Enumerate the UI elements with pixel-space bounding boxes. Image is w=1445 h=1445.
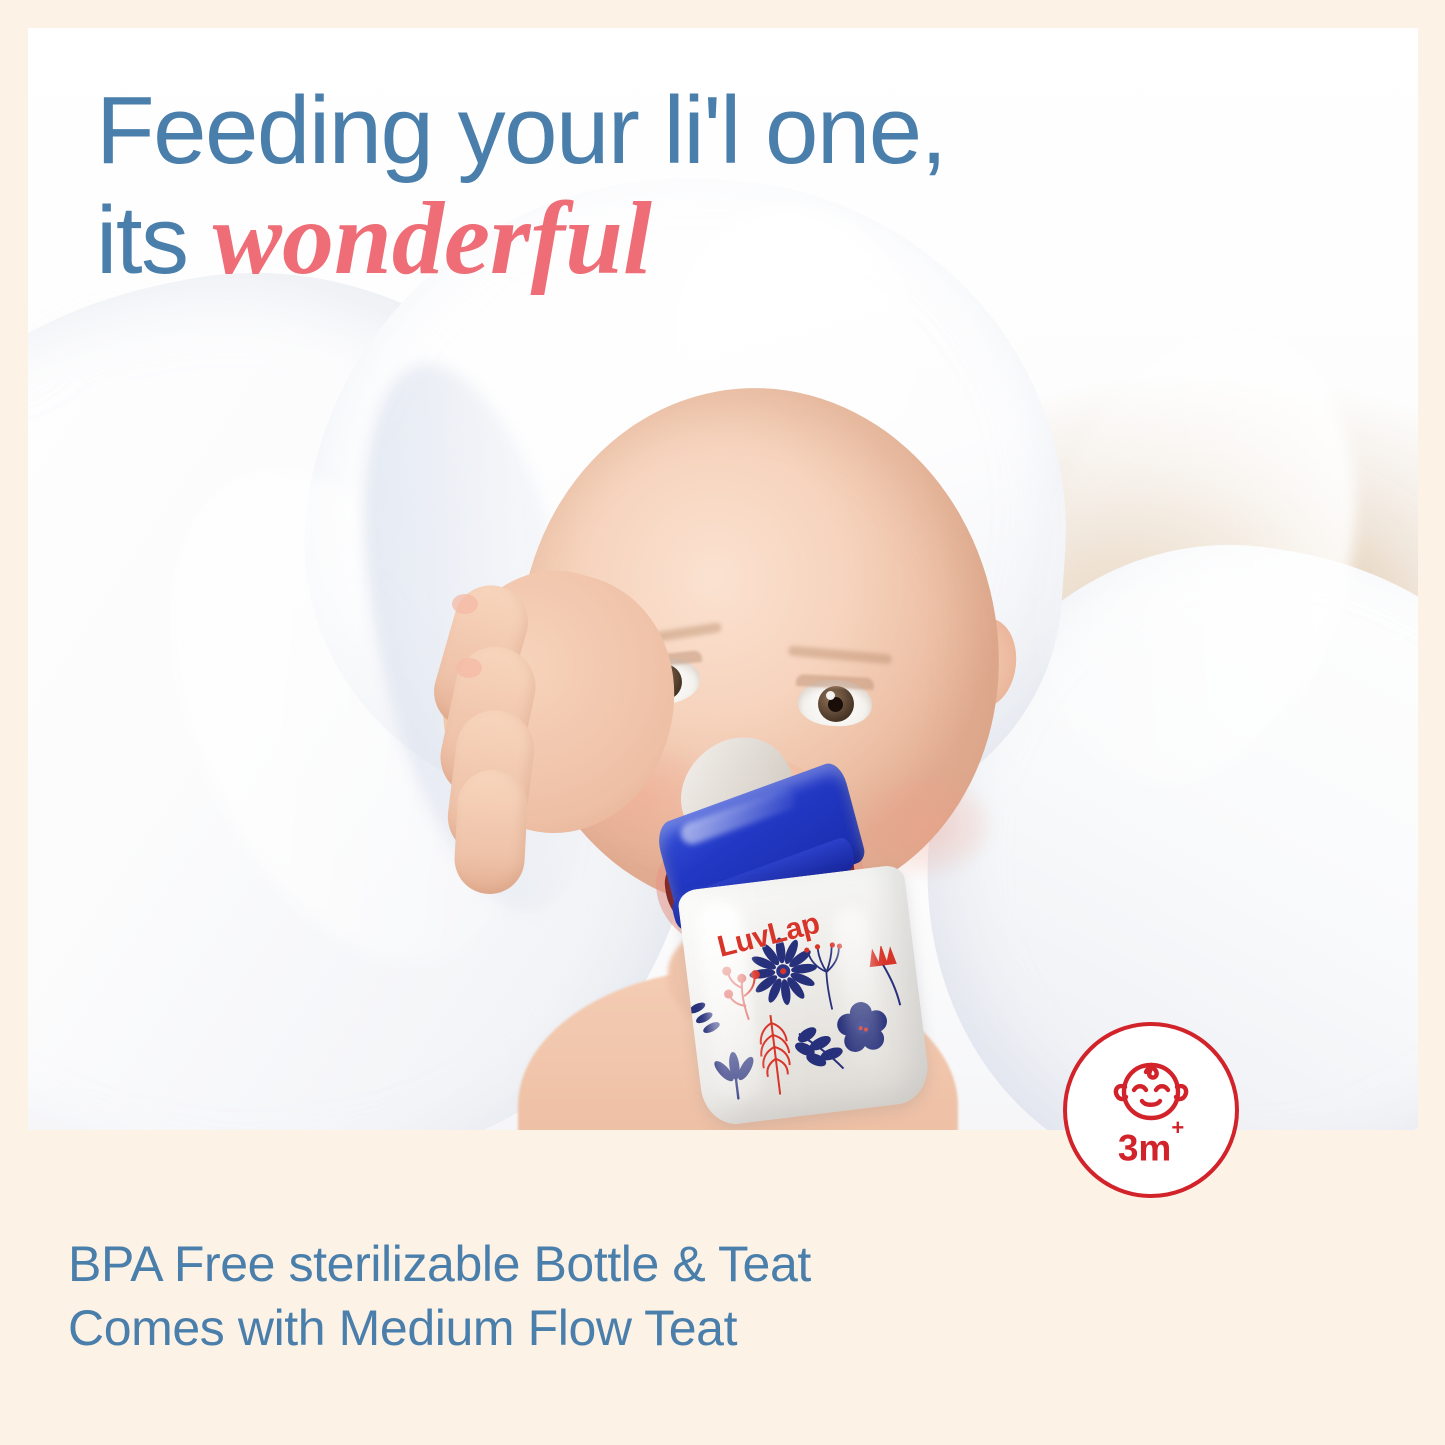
age-badge: 3m+ xyxy=(1063,1022,1239,1198)
headline: Feeding your li'l one, its wonderful xyxy=(96,84,1096,290)
content-card: LuvLap Feeding your li'l one, its wonder… xyxy=(28,28,1418,1130)
baby-fingernail xyxy=(456,658,482,678)
product-ad-poster: LuvLap Feeding your li'l one, its wonder… xyxy=(0,0,1445,1445)
headline-line-1: Feeding your li'l one, xyxy=(96,84,1096,178)
headline-accent-word: wonderful xyxy=(213,181,652,296)
feature-line-1: BPA Free sterilizable Bottle & Teat xyxy=(68,1232,1268,1296)
age-badge-text: 3m+ xyxy=(1118,1129,1184,1166)
feeding-bottle: LuvLap xyxy=(645,746,987,1130)
feature-text-block: BPA Free sterilizable Bottle & Teat Come… xyxy=(68,1232,1268,1360)
baby-finger xyxy=(453,768,529,895)
headline-line-2-prefix: its xyxy=(96,187,188,294)
headline-line-2: its wonderful xyxy=(96,188,1096,290)
age-badge-suffix: + xyxy=(1171,1115,1184,1140)
baby-fingernail xyxy=(452,594,478,614)
feature-line-2: Comes with Medium Flow Teat xyxy=(68,1296,1268,1360)
age-badge-value: 3m xyxy=(1118,1128,1171,1169)
baby-eye-glint-right xyxy=(826,691,835,700)
